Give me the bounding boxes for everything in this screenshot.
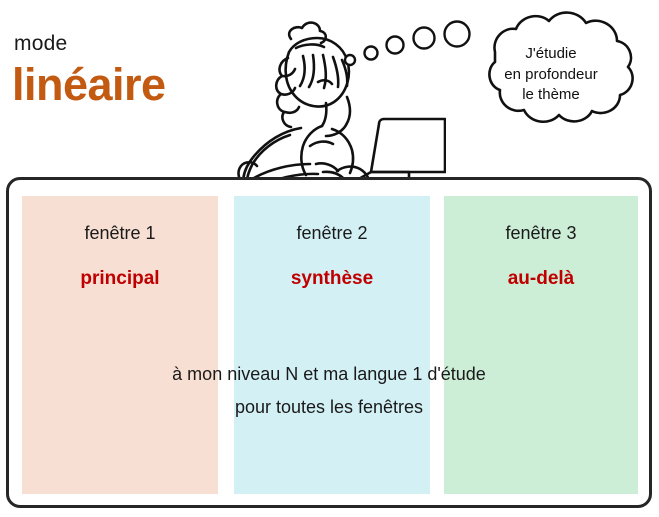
window-1-value: principal xyxy=(22,268,218,290)
thought-line-3: le thème xyxy=(522,85,580,106)
window-column-2[interactable]: fenêtre 2 synthèse xyxy=(234,196,430,494)
mode-name-title: linéaire xyxy=(12,62,166,107)
window-column-3[interactable]: fenêtre 3 au-delà xyxy=(444,196,638,494)
window-2-value: synthèse xyxy=(234,268,430,290)
window-2-title: fenêtre 2 xyxy=(234,223,430,244)
shared-note: à mon niveau N et ma langue 1 d'étude po… xyxy=(6,358,652,425)
window-3-value: au-delà xyxy=(444,268,638,290)
thought-line-2: en profondeur xyxy=(504,65,597,86)
thought-line-1: J'étudie xyxy=(525,44,576,65)
window-3-title: fenêtre 3 xyxy=(444,223,638,244)
shared-note-line-1: à mon niveau N et ma langue 1 d'étude xyxy=(6,358,652,391)
window-1-title: fenêtre 1 xyxy=(22,223,218,244)
mode-label: mode xyxy=(14,33,67,54)
shared-note-line-2: pour toutes les fenêtres xyxy=(6,391,652,424)
thought-cloud: J'étudie en profondeur le thème xyxy=(448,5,654,141)
window-column-1[interactable]: fenêtre 1 principal xyxy=(22,196,218,494)
thought-cloud-text: J'étudie en profondeur le thème xyxy=(448,5,654,141)
